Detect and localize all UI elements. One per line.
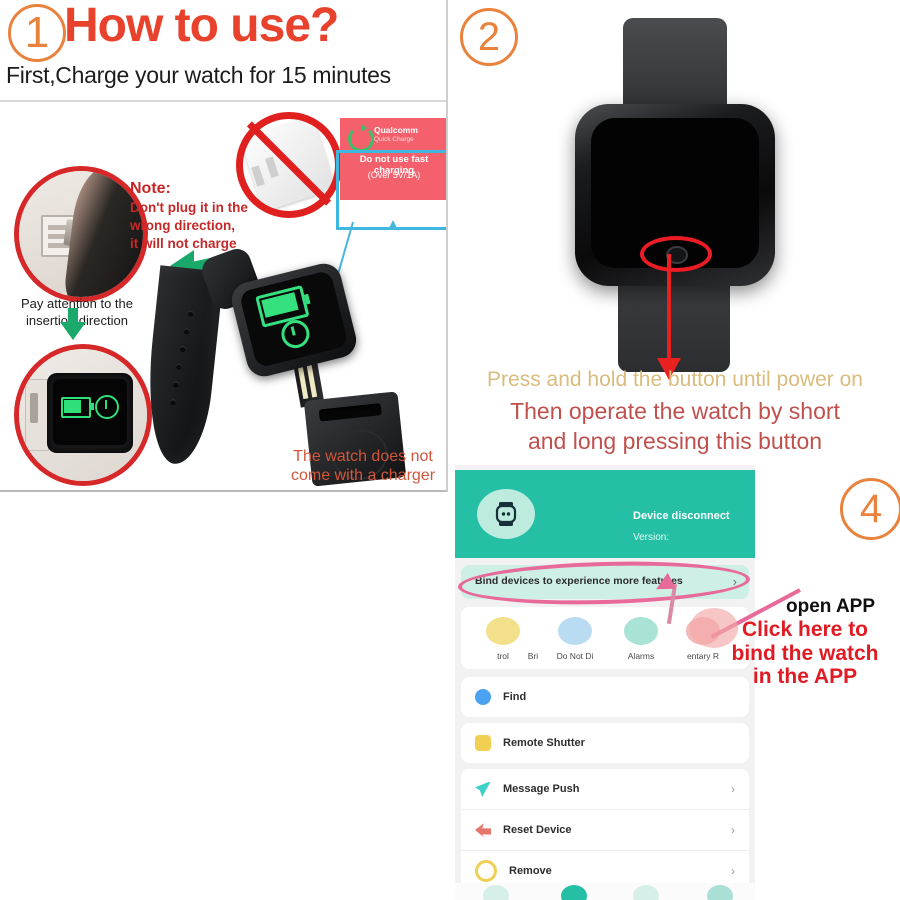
link-icon [475, 860, 497, 882]
chevron-right-icon: › [731, 823, 735, 837]
power-button-icon [95, 395, 119, 419]
list-item[interactable]: Message Push › [461, 769, 749, 809]
red-arrow-stem [667, 254, 671, 366]
no-charger-disclaimer: The watch does not come with a charger [278, 448, 448, 486]
chevron-right-icon: › [731, 782, 735, 796]
power-on-instruction: Press and hold the button until power on [450, 368, 900, 392]
quick-action-label: Alarms [613, 651, 669, 661]
quick-action-label: Do Not Di [547, 651, 603, 661]
bind-annotation-line-3: in the APP [753, 665, 857, 688]
search-icon [475, 689, 491, 705]
chevron-right-icon: › [731, 864, 735, 878]
power-button-highlight [640, 236, 712, 272]
blue-arrow-head-icon [388, 220, 398, 230]
list-item-label: Reset Device [503, 824, 572, 836]
usb-wrong-direction-photo [14, 166, 148, 302]
watch-glyph-icon [495, 501, 517, 527]
quick-action-item[interactable]: Do Not Di [547, 617, 603, 661]
qualcomm-brand: Qualcomm [374, 125, 418, 135]
note-text: Note: Don't plug it in the wrong directi… [130, 178, 248, 253]
tab-active[interactable] [561, 885, 587, 900]
operate-instruction-line-2: and long pressing this button [450, 428, 900, 455]
undo-icon [475, 822, 491, 838]
panel-scan-qr: Scan the manual QR code with your mobile… [0, 494, 448, 900]
tab-profile[interactable] [707, 885, 733, 900]
open-app-annotation: open APP [786, 596, 875, 618]
list-item-label: Remote Shutter [503, 737, 585, 749]
step-number-4: 4 [840, 478, 900, 540]
app-tab-bar [455, 883, 755, 900]
list-group-settings: Message Push › Reset Device › Remove › O… [461, 769, 749, 900]
bind-annotation-line-2: bind the watch [732, 642, 879, 665]
panel-power-on: 2 Press and hold the button until power … [450, 0, 900, 465]
green-arrow-down-icon [60, 322, 86, 340]
bind-annotation-line-1: Click here to [742, 618, 868, 641]
no-charger-line-1: The watch does not [293, 448, 433, 465]
note-line-2: wrong direction, [130, 218, 235, 233]
app-header: Device disconnect Version: [455, 470, 755, 558]
version-label: Version: [633, 532, 669, 543]
instruction-sheet: 1 How to use? First,Charge your watch fo… [0, 0, 900, 900]
list-item-label: Message Push [503, 783, 579, 795]
usb-correct-direction-photo [14, 344, 152, 486]
device-status-text: Device disconnect [633, 510, 730, 522]
camera-icon [475, 735, 491, 751]
tab-device[interactable] [483, 885, 509, 900]
divider [0, 100, 448, 102]
list-item-label: Find [503, 691, 526, 703]
list-item[interactable]: Reset Device › [461, 809, 749, 850]
quick-charge-label: Quick Charge [374, 136, 414, 143]
list-item-label: Remove [509, 865, 552, 877]
battery-charging-icon [61, 397, 91, 418]
quick-action-item[interactable]: Alarms [613, 617, 669, 661]
charge-subtitle: First,Charge your watch for 15 minutes [6, 62, 391, 89]
watch-avatar-icon [477, 489, 535, 539]
no-fast-charger-icon [236, 112, 342, 218]
note-line-3: it will not charge [130, 236, 237, 251]
send-icon [475, 781, 491, 797]
panel-how-to-use: 1 How to use? First,Charge your watch fo… [0, 0, 448, 492]
step-number-1: 1 [8, 4, 66, 62]
no-charger-line-2: come with a charger [291, 467, 435, 484]
note-heading: Note: [130, 180, 171, 197]
click-to-bind-annotation: Click here to bind the watch in the APP [700, 618, 900, 689]
step-number-2: 2 [460, 8, 518, 66]
note-line-1: Don't plug it in the [130, 200, 248, 215]
tab-sport[interactable] [633, 885, 659, 900]
page-title: How to use? [64, 0, 338, 53]
list-item[interactable]: Remote Shutter [461, 723, 749, 763]
operate-instruction-line-1: Then operate the watch by short [450, 398, 900, 425]
blue-highlight-box [336, 150, 448, 230]
quick-charge-logo-icon [348, 126, 374, 152]
list-group-shutter: Remote Shutter [461, 723, 749, 763]
